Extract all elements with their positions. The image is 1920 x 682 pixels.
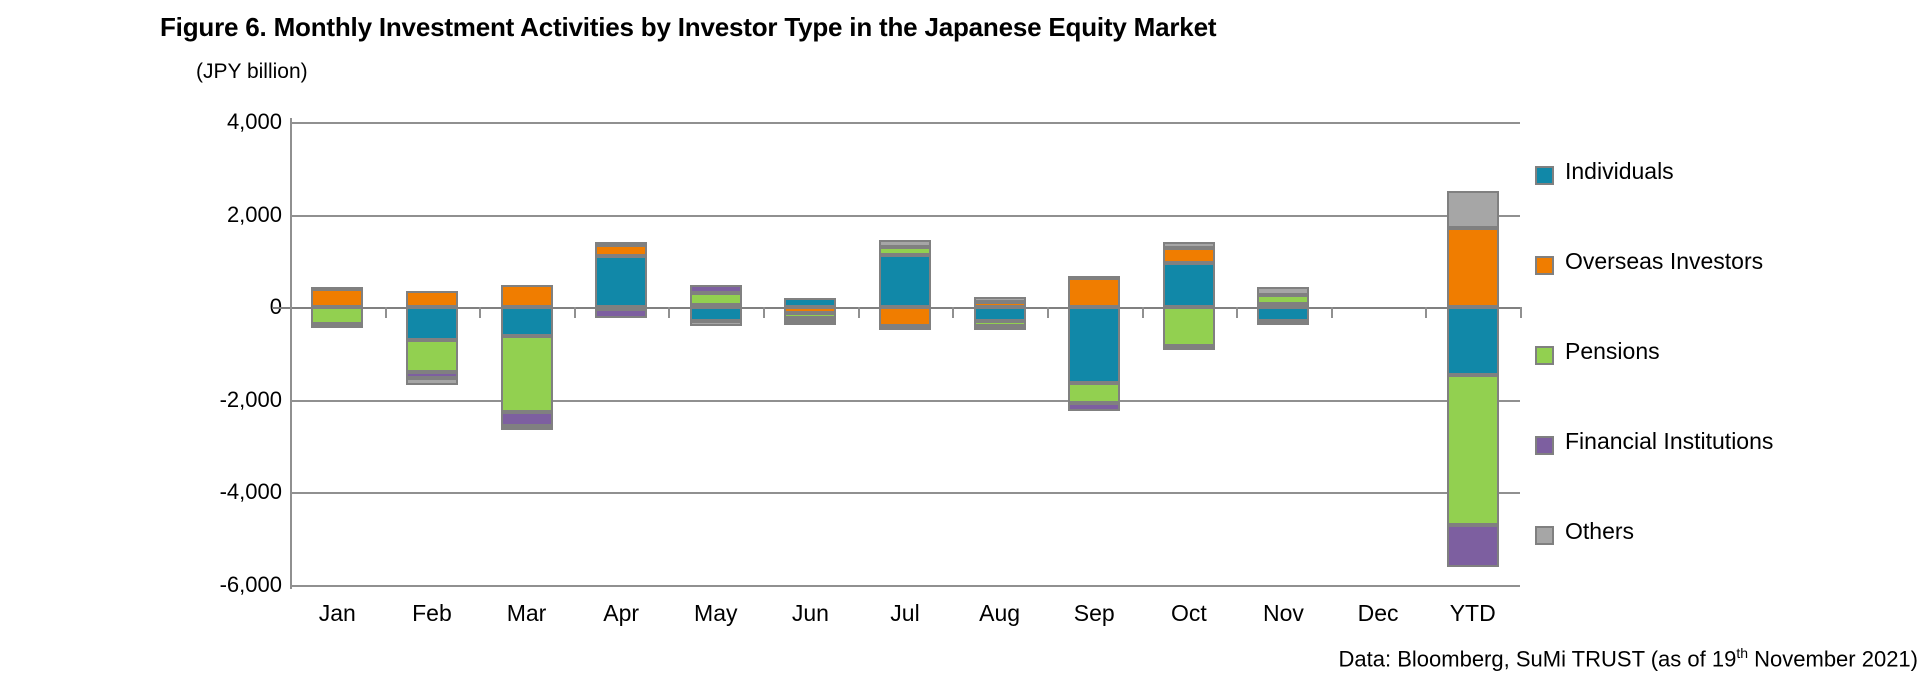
bar-segment (311, 307, 363, 324)
bar-segment (1068, 276, 1120, 280)
bar-segment (879, 247, 931, 255)
x-axis-tick-mark (1331, 307, 1333, 318)
bar-segment (879, 255, 931, 307)
bar-segment (1447, 375, 1499, 525)
y-axis-tick-labels: 4,0002,0000-2,000-4,000-6,000 (160, 122, 282, 585)
legend-item[interactable]: Overseas Investors (1535, 250, 1915, 340)
bar-segment (974, 302, 1026, 307)
x-axis-tick-mark (574, 307, 576, 318)
chart-legend: IndividualsOverseas InvestorsPensionsFin… (1535, 160, 1915, 610)
y-axis-tick-label: 4,000 (227, 109, 282, 135)
legend-item[interactable]: Others (1535, 520, 1915, 610)
y-axis-line (290, 118, 292, 589)
bar-segment (1163, 248, 1215, 263)
bar-segment (311, 324, 363, 328)
x-axis-tick-label: Nov (1263, 600, 1304, 627)
gridline (290, 585, 1520, 587)
bar-segment (501, 285, 553, 307)
bar-segment (1068, 383, 1120, 403)
x-axis-tick-label: Sep (1074, 600, 1115, 627)
bar-segment (1068, 278, 1120, 308)
bar-segment (1163, 242, 1215, 248)
legend-item-label: Overseas Investors (1565, 248, 1763, 275)
x-axis-tick-label: Apr (603, 600, 639, 627)
bar-segment (974, 307, 1026, 321)
bar-segment (501, 426, 553, 430)
x-axis-tick-label: May (694, 600, 737, 627)
bar-segment (406, 378, 458, 385)
bar-segment (879, 326, 931, 330)
bar-segment (1068, 403, 1120, 411)
bar-segment (1447, 525, 1499, 567)
bar-segment (311, 287, 363, 291)
page-title: Figure 6. Monthly Investment Activities … (160, 12, 1760, 43)
bar-segment (879, 307, 931, 326)
legend-item-label: Pensions (1565, 338, 1660, 365)
legend-swatch-individuals (1535, 166, 1554, 185)
bar-segment (879, 240, 931, 247)
legend-swatch-others (1535, 526, 1554, 545)
x-axis-tick-label: Feb (412, 600, 452, 627)
x-axis-tick-label: Aug (979, 600, 1020, 627)
x-axis-tick-label: Jan (319, 600, 356, 627)
bar-segment (406, 307, 458, 339)
y-axis-tick-label: -4,000 (220, 479, 282, 505)
x-axis-tick-mark (952, 307, 954, 318)
bar-segment (406, 340, 458, 372)
y-axis-tick-label: -2,000 (220, 387, 282, 413)
gridline (290, 215, 1520, 217)
x-axis-tick-mark (1425, 307, 1427, 318)
bar-segment (690, 305, 742, 309)
gridline (290, 400, 1520, 402)
legend-item-label: Financial Institutions (1565, 428, 1773, 455)
x-axis-tick-mark (763, 307, 765, 318)
bar-segment (501, 307, 553, 336)
legend-swatch-financial (1535, 436, 1554, 455)
bar-segment (1068, 307, 1120, 382)
bar-segment (974, 326, 1026, 330)
legend-item[interactable]: Individuals (1535, 160, 1915, 250)
bar-segment (595, 242, 647, 246)
bar-segment (1447, 307, 1499, 375)
legend-item-label: Individuals (1565, 158, 1674, 185)
bar-segment (784, 298, 836, 307)
bar-segment (1257, 287, 1309, 295)
x-axis-tick-label: Jul (890, 600, 919, 627)
bar-segment (690, 293, 742, 305)
x-axis-tick-label: Dec (1358, 600, 1399, 627)
plot-area (290, 122, 1520, 585)
bar-segment (690, 321, 742, 326)
bar-segment (501, 412, 553, 426)
x-axis-tick-label: Oct (1171, 600, 1207, 627)
bar-segment (501, 336, 553, 412)
bar-segment (690, 285, 742, 293)
source-note: Data: Bloomberg, SuMi TRUST (as of 19th … (1339, 645, 1918, 672)
y-axis-unit-label: (JPY billion) (196, 60, 308, 84)
x-axis-tick-mark (1142, 307, 1144, 318)
bar-segment (1257, 307, 1309, 321)
x-axis-tick-label: YTD (1450, 600, 1496, 627)
bar-segment (595, 309, 647, 318)
figure-container: Figure 6. Monthly Investment Activities … (0, 0, 1920, 682)
bar-segment (1447, 191, 1499, 229)
legend-swatch-overseas (1535, 256, 1554, 275)
x-axis-tick-mark (385, 307, 387, 318)
bar-segment (1163, 346, 1215, 351)
source-note-pre: Data: Bloomberg, SuMi TRUST (as of 19 (1339, 646, 1737, 671)
bar-segment (406, 291, 458, 307)
legend-swatch-pensions (1535, 346, 1554, 365)
x-axis-tick-mark (1236, 307, 1238, 318)
x-axis-tick-mark (668, 307, 670, 318)
legend-item[interactable]: Pensions (1535, 340, 1915, 430)
legend-item[interactable]: Financial Institutions (1535, 430, 1915, 520)
y-axis-tick-label: 2,000 (227, 202, 282, 228)
bar-segment (784, 321, 836, 325)
bar-segment (1257, 321, 1309, 325)
bar-segment (1257, 304, 1309, 308)
bar-segment (974, 297, 1026, 302)
x-axis-tick-mark (1047, 307, 1049, 318)
source-note-ordinal: th (1736, 645, 1748, 661)
bar-segment (1163, 307, 1215, 345)
x-axis-tick-label: Mar (507, 600, 547, 627)
bar-segment (1163, 263, 1215, 307)
bar-segment (1257, 295, 1309, 304)
x-axis-tick-label: Jun (792, 600, 829, 627)
x-axis-tick-mark (1520, 307, 1522, 318)
bar-segment (1447, 228, 1499, 307)
bar-segment (595, 245, 647, 257)
gridline (290, 122, 1520, 124)
gridline (290, 492, 1520, 494)
bar-segment (311, 289, 363, 308)
bar-segment (595, 256, 647, 307)
source-note-post: November 2021) (1748, 646, 1918, 671)
x-axis-tick-mark (479, 307, 481, 318)
y-axis-tick-label: -6,000 (220, 572, 282, 598)
legend-item-label: Others (1565, 518, 1634, 545)
x-axis-tick-mark (290, 307, 292, 318)
x-axis-tick-mark (858, 307, 860, 318)
